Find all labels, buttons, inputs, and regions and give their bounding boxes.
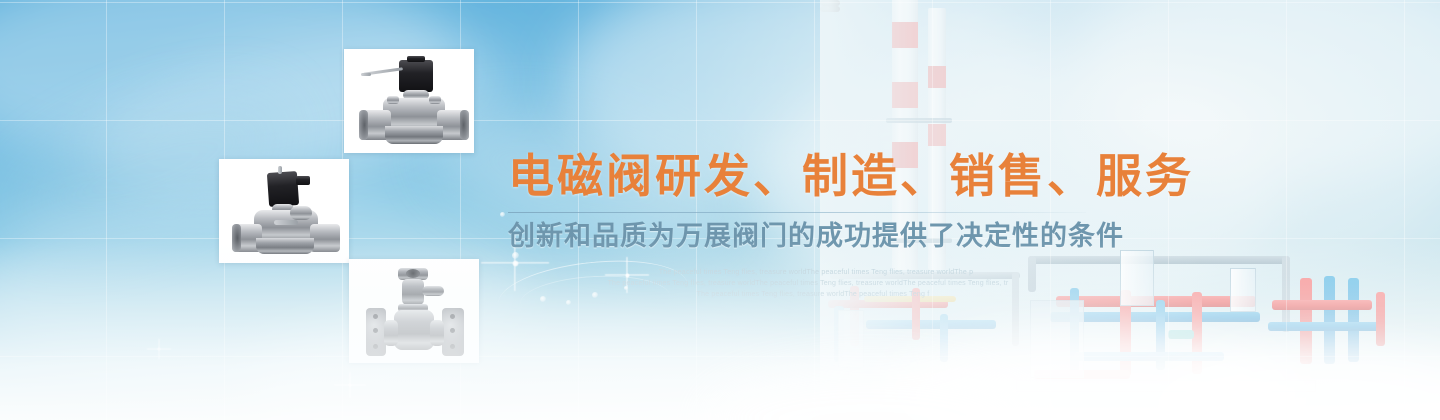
headline-divider (508, 212, 1086, 213)
product-image-solenoid-valve-threaded-top (349, 54, 469, 148)
hero-banner: 电磁阀研发、制造、销售、服务 创新和品质为万展阀门的成功提供了决定性的条件 Th… (0, 0, 1440, 420)
product-card[interactable] (344, 49, 474, 153)
hero-headline: 电磁阀研发、制造、销售、服务 (508, 148, 1108, 204)
